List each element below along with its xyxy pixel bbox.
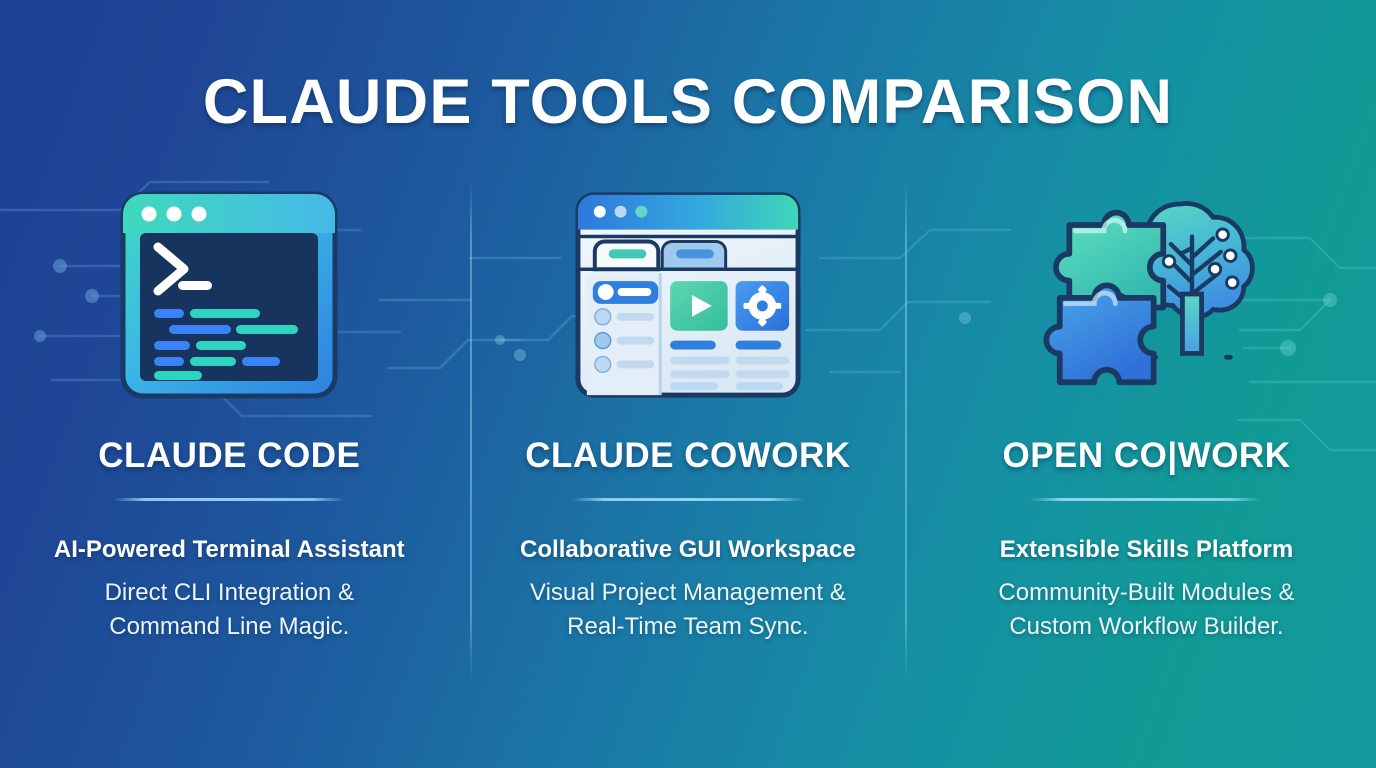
puzzle-tree-icon (1031, 180, 1261, 410)
card-title: CLAUDE COWORK (525, 436, 850, 476)
infographic-canvas: CLAUDE TOOLS COMPARISON (0, 0, 1376, 768)
card-description: Community-Built Modules & Custom Workflo… (998, 576, 1294, 644)
card-description: Visual Project Management & Real-Time Te… (530, 576, 846, 644)
page-title: CLAUDE TOOLS COMPARISON (0, 66, 1376, 138)
comparison-card-claude-cowork[interactable]: CLAUDE COWORK Collaborative GUI Workspac… (459, 180, 918, 644)
title-underline (1030, 498, 1262, 501)
description-line: Community-Built Modules & (998, 576, 1294, 610)
card-title: CLAUDE CODE (98, 436, 360, 476)
description-line: Real-Time Team Sync. (530, 610, 846, 644)
comparison-card-claude-code[interactable]: CLAUDE CODE AI-Powered Terminal Assistan… (0, 180, 459, 644)
gui-workspace-window-icon (573, 180, 803, 410)
description-line: Direct CLI Integration & (105, 576, 354, 610)
card-title: OPEN CO|WORK (1002, 436, 1290, 476)
terminal-window-icon (114, 180, 344, 410)
card-subtitle: Collaborative GUI Workspace (520, 536, 856, 564)
comparison-columns: CLAUDE CODE AI-Powered Terminal Assistan… (0, 180, 1376, 644)
description-line: Custom Workflow Builder. (998, 610, 1294, 644)
title-underline (572, 498, 804, 501)
card-subtitle: AI-Powered Terminal Assistant (54, 536, 405, 564)
comparison-card-open-cowork[interactable]: OPEN CO|WORK Extensible Skills Platform … (917, 180, 1376, 644)
description-line: Visual Project Management & (530, 576, 846, 610)
card-subtitle: Extensible Skills Platform (1000, 536, 1293, 564)
title-underline (113, 498, 345, 501)
card-description: Direct CLI Integration & Command Line Ma… (105, 576, 354, 644)
description-line: Command Line Magic. (105, 610, 354, 644)
